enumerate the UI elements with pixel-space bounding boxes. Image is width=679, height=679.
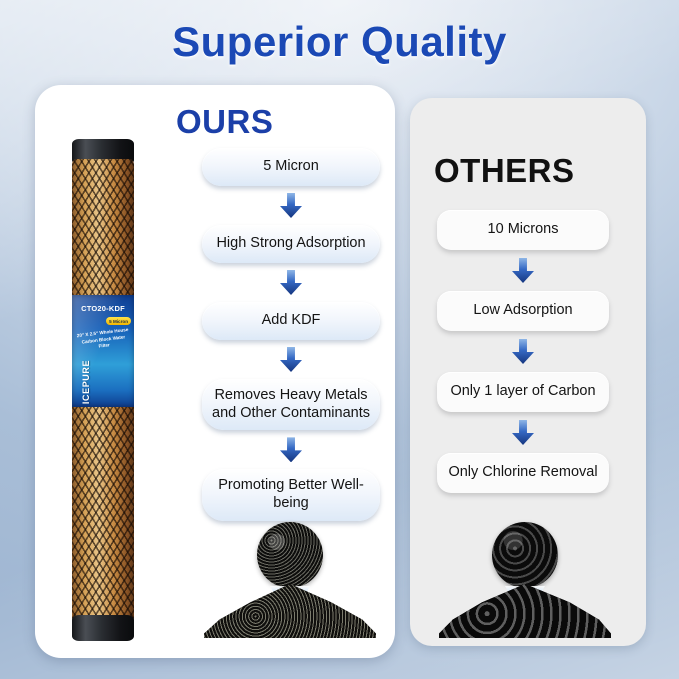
arrow-down-icon [280, 437, 302, 462]
page-title: Superior Quality [0, 18, 679, 66]
filter-cartridge-image: CTO20-KDF 5 Micron 20" X 2.5" Whole Hous… [72, 139, 134, 641]
arrow-down-icon [512, 258, 534, 283]
ours-header: OURS [176, 103, 273, 141]
ours-step-2: High Strong Adsorption [202, 225, 380, 263]
coarse-carbon-pile [439, 584, 611, 638]
others-step-2: Low Adsorption [437, 291, 609, 331]
others-flow-list: 10 Microns Low Adsorption Only 1 layer o… [437, 210, 609, 493]
arrow-down-icon [280, 347, 302, 372]
fine-carbon-pile [204, 584, 376, 638]
others-step-3: Only 1 layer of Carbon [437, 372, 609, 412]
ours-step-1: 5 Micron [202, 148, 380, 186]
others-step-1: 10 Microns [437, 210, 609, 250]
cartridge-bottom-cap [72, 615, 134, 641]
ours-step-5: Promoting Better Well-being [202, 469, 380, 520]
arrow-down-icon [512, 420, 534, 445]
product-label: CTO20-KDF 5 Micron 20" X 2.5" Whole Hous… [72, 295, 134, 407]
arrow-down-icon [280, 270, 302, 295]
ours-step-3: Add KDF [202, 302, 380, 340]
others-header: OTHERS [434, 152, 575, 190]
arrow-down-icon [512, 339, 534, 364]
others-step-4: Only Chlorine Removal [437, 453, 609, 493]
arrow-down-icon [280, 193, 302, 218]
ours-carbon-illustration [195, 520, 385, 640]
product-sku: CTO20-KDF [72, 304, 134, 313]
ours-flow-list: 5 Micron High Strong Adsorption Add KDF … [202, 148, 380, 521]
magnifier-circle-fine-carbon [257, 522, 323, 588]
others-carbon-illustration [430, 520, 620, 640]
brand-name: ICEPURE [81, 344, 91, 407]
magnifier-circle-coarse-carbon [492, 522, 558, 588]
micron-badge: 5 Micron [106, 317, 131, 325]
ours-step-4: Removes Heavy Metals and Other Contamina… [202, 379, 380, 430]
